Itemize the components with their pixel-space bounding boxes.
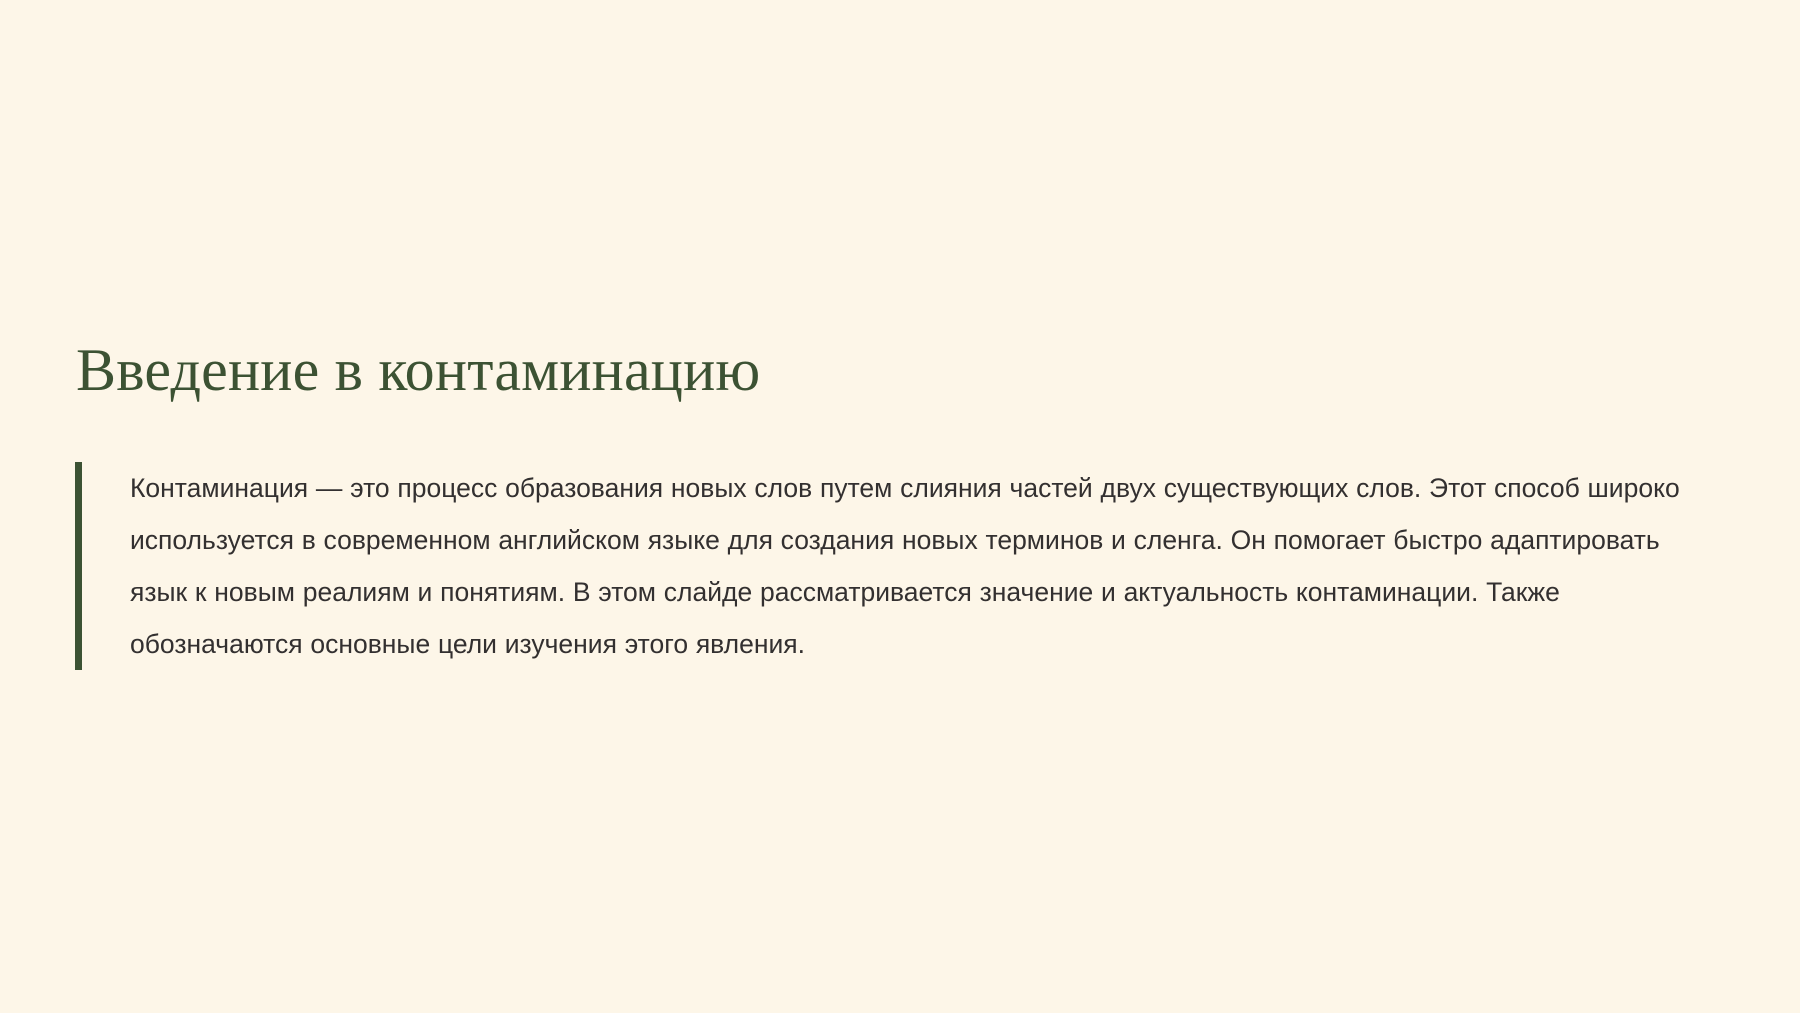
body-callout-block: Контаминация — это процесс образования н… (75, 462, 1715, 670)
accent-bar (75, 462, 82, 670)
slide-canvas: Введение в контаминацию Контаминация — э… (0, 0, 1800, 1013)
body-paragraph: Контаминация — это процесс образования н… (82, 462, 1705, 670)
page-title: Введение в контаминацию (76, 337, 760, 404)
